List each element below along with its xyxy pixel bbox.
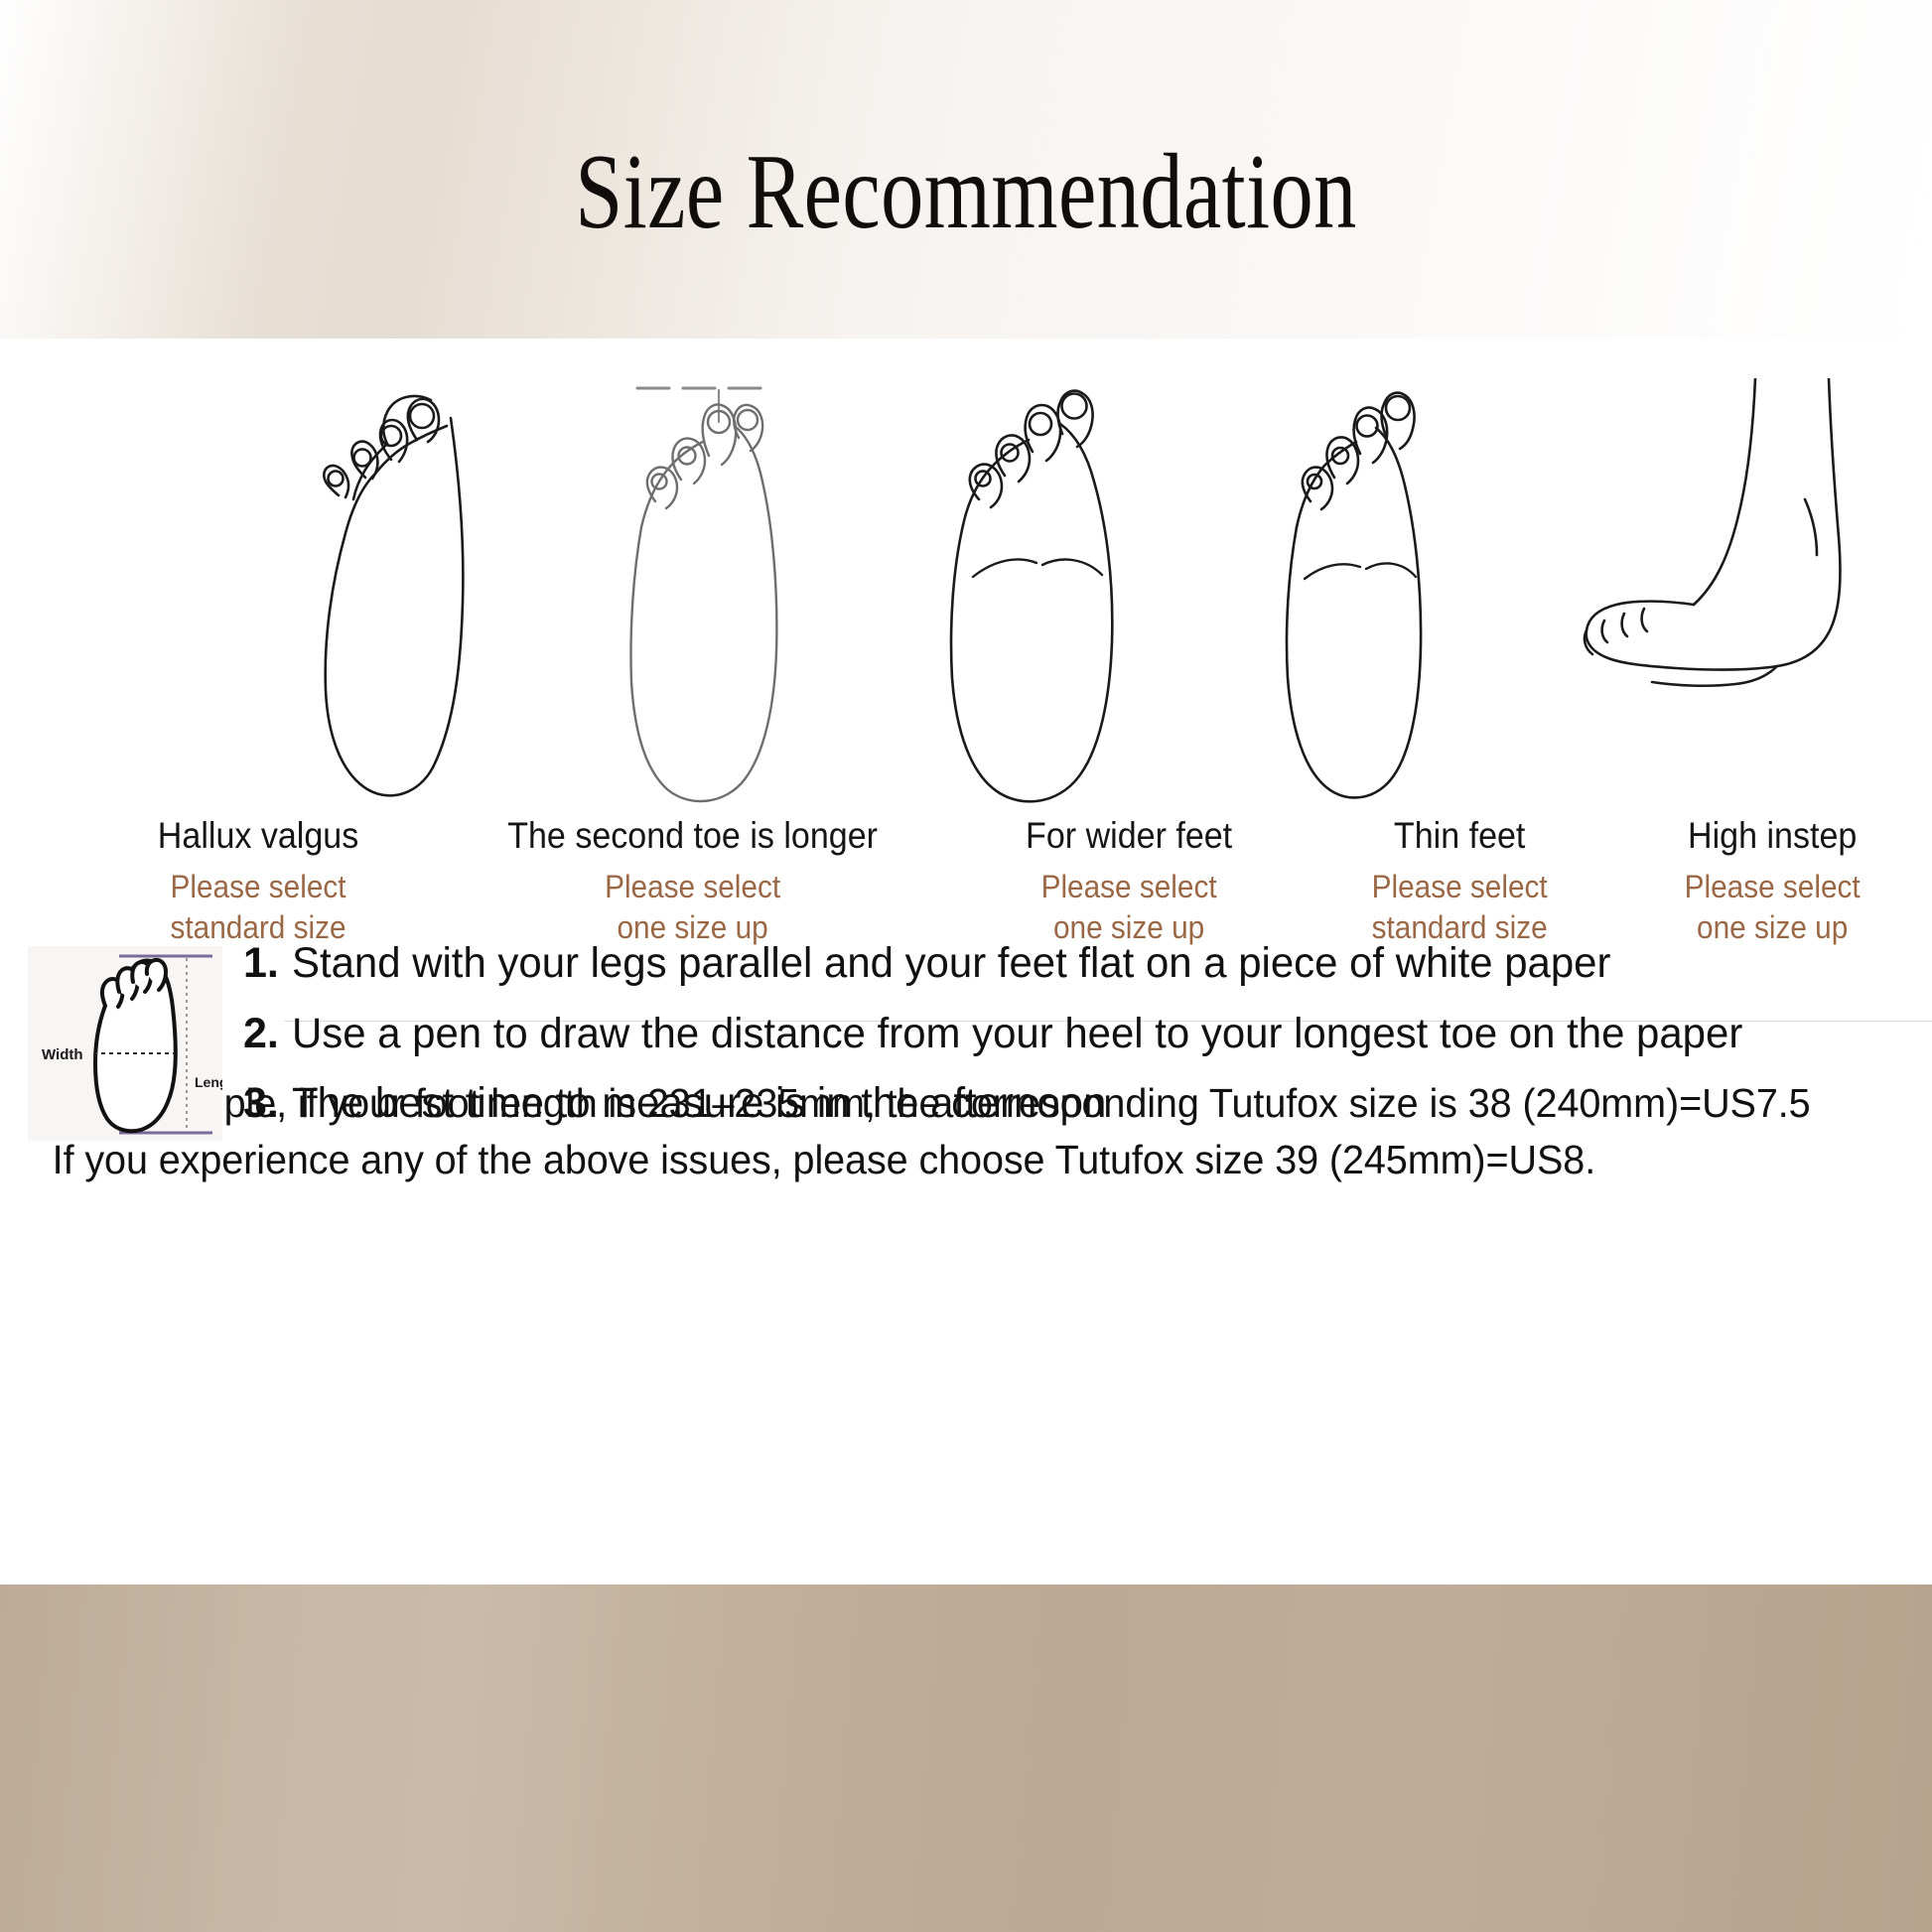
main-content: Hallux valgus Please select standard siz… [0,339,1932,1585]
foot-label-advice: Please select one size up [1025,867,1233,948]
foot-measurement-diagram-icon: Width Length [28,946,222,1141]
foot-label-row: Hallux valgus Please select standard siz… [149,815,1866,948]
step-number: 2. [243,1009,279,1059]
foot-label-title: For wider feet [1026,815,1232,856]
step-text: Stand with your legs parallel and your f… [292,938,1610,989]
foot-profile-high-instep-icon [1575,378,1872,805]
step-item: 3. The best time to measure is in the af… [243,1078,1911,1129]
step-number: 1. [243,938,279,989]
foot-illustration-row [284,378,1872,805]
foot-sole-wide-icon [939,378,1128,805]
step-item: 1. Stand with your legs parallel and you… [243,938,1911,989]
advice-line-1: Please select [1684,867,1860,907]
advice-line-1: Please select [1025,867,1233,907]
measurement-steps: 1. Stand with your legs parallel and you… [243,938,1911,1149]
foot-label-cell: High instep Please select one size up [1678,815,1866,948]
step-item: 2. Use a pen to draw the distance from y… [243,1009,1911,1059]
width-label: Width [42,1046,83,1063]
advice-line-1: Please select [505,867,880,907]
foot-label-advice: Please select standard size [1372,867,1548,948]
advice-line-1: Please select [157,867,360,907]
foot-label-title: The second toe is longer [507,815,878,856]
length-label: Length [195,1074,222,1090]
size-recommendation-page: Size Recommendation [0,0,1932,1932]
bottom-banner [0,1585,1932,1932]
foot-label-advice: Please select one size up [1684,867,1860,948]
step-text: Use a pen to draw the distance from your… [292,1009,1742,1059]
foot-label-title: Hallux valgus [158,815,358,856]
page-title: Size Recommendation [194,137,1739,248]
foot-label-title: High instep [1685,815,1859,856]
step-number: 3. [243,1078,279,1129]
foot-label-cell: For wider feet Please select one size up [1017,815,1241,948]
foot-label-cell: Hallux valgus Please select standard siz… [149,815,367,948]
top-banner: Size Recommendation [0,0,1932,339]
advice-line-1: Please select [1372,867,1548,907]
foot-sole-hallux-valgus-icon [284,378,473,805]
foot-sole-thin-icon [1267,378,1436,805]
foot-label-advice: Please select one size up [505,867,880,948]
foot-label-cell: The second toe is longer Please select o… [491,815,894,948]
foot-sole-second-toe-longer-icon [612,378,800,805]
foot-label-cell: Thin feet Please select standard size [1365,815,1554,948]
foot-label-title: Thin feet [1372,815,1546,856]
step-text: The best time to measure is in the after… [292,1078,1106,1129]
foot-label-advice: Please select standard size [157,867,360,948]
